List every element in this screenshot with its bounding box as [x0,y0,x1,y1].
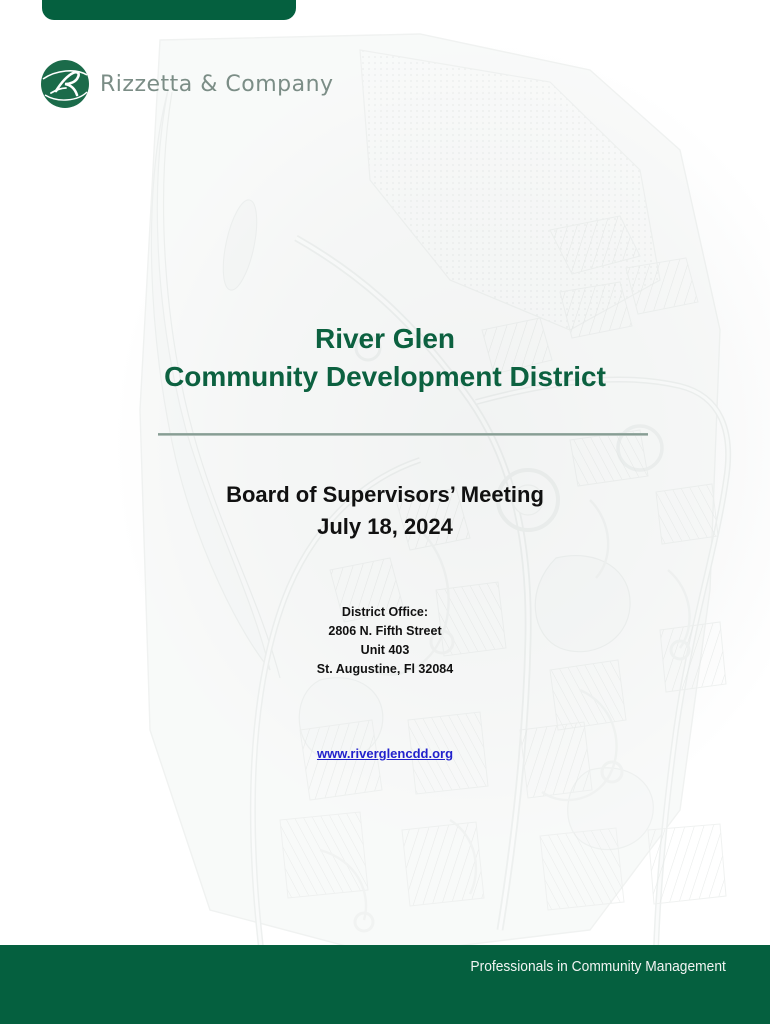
page-title: River Glen Community Development Distric… [0,320,770,396]
district-title-line2: Community Development District [0,358,770,396]
rizzetta-logo-icon [40,59,90,109]
company-wordmark: Rizzetta & Company [100,72,334,97]
meeting-date: July 18, 2024 [0,511,770,543]
brand-lockup: Rizzetta & Company [40,59,334,109]
website-link-row: www.riverglencdd.org [0,745,770,763]
office-street: 2806 N. Fifth Street [0,622,770,641]
office-label: District Office: [0,603,770,622]
document-page: Rizzetta & Company River Glen Community … [0,0,770,1024]
meeting-heading: Board of Supervisors’ Meeting July 18, 2… [0,479,770,543]
district-office-address: District Office: 2806 N. Fifth Street Un… [0,603,770,680]
office-unit: Unit 403 [0,641,770,660]
footer-tagline: Professionals in Community Management [62,958,770,975]
header-green-tab [42,0,296,20]
footer-bar [0,945,770,1024]
website-link[interactable]: www.riverglencdd.org [317,746,453,761]
office-city-state-zip: St. Augustine, Fl 32084 [0,660,770,679]
title-divider [158,433,648,436]
district-title-line1: River Glen [315,323,455,354]
meeting-name: Board of Supervisors’ Meeting [0,479,770,511]
